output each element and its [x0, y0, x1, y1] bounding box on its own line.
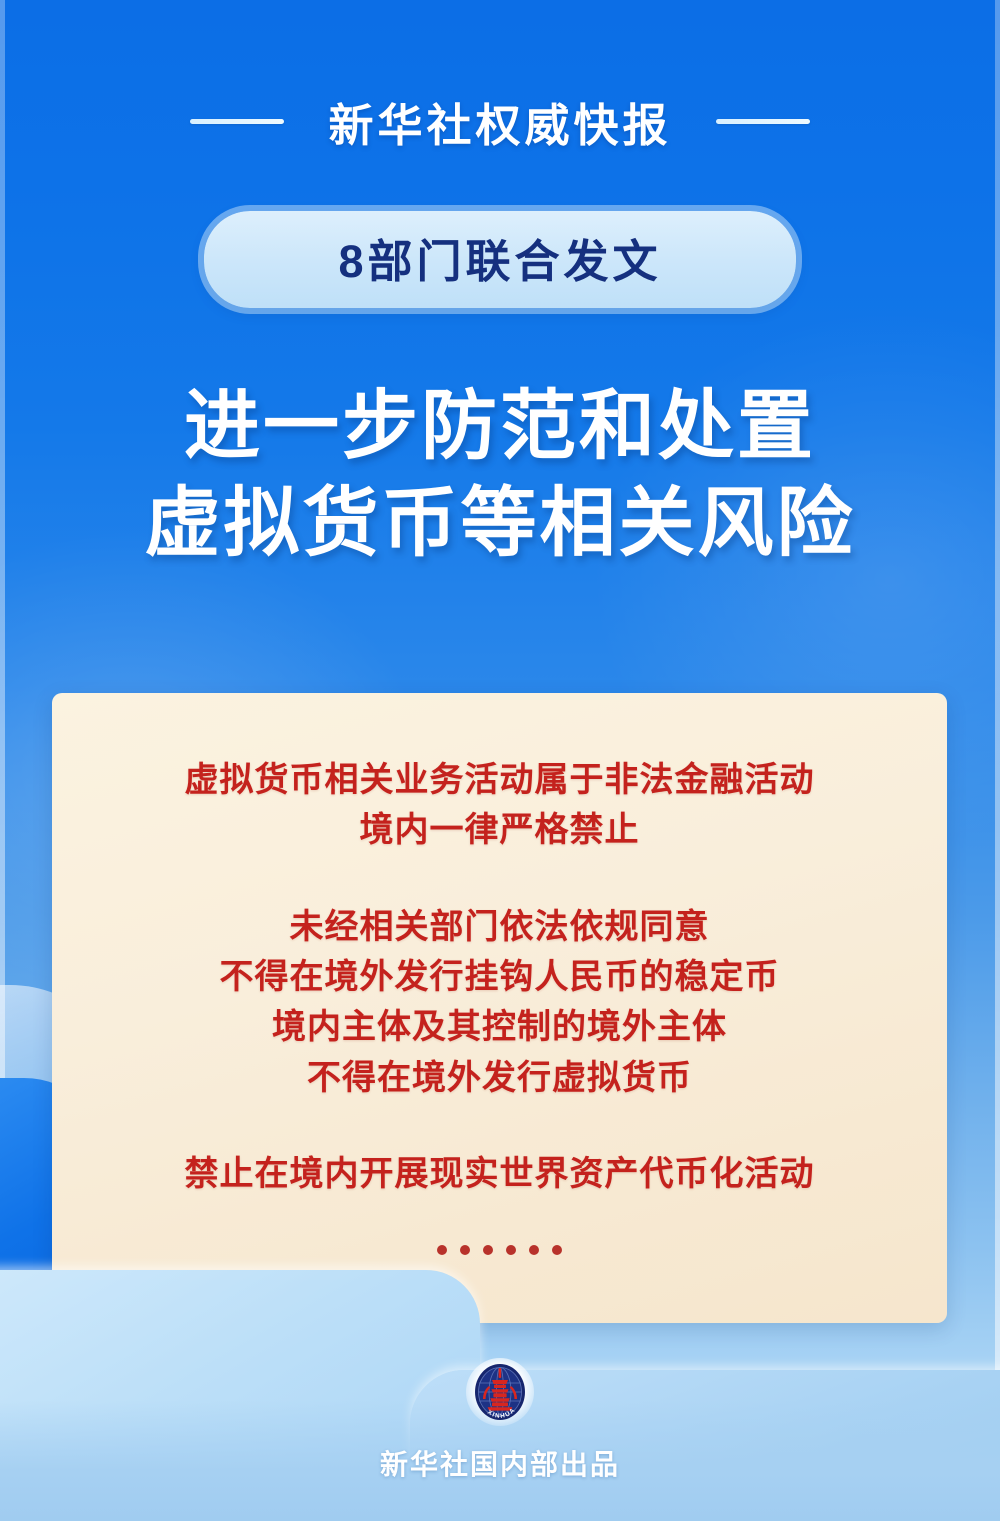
statement-line: 虚拟货币相关业务活动属于非法金融活动 [52, 755, 947, 805]
statement-line: 不得在境外发行挂钩人民币的稳定币 [52, 952, 947, 1002]
ellipsis-dot [437, 1245, 447, 1255]
statement-line: 不得在境外发行虚拟货币 [52, 1053, 947, 1103]
ellipsis-icon [52, 1245, 947, 1255]
statement-group-3: 禁止在境内开展现实世界资产代币化活动 [52, 1149, 947, 1199]
statement-line: 境内主体及其控制的境外主体 [52, 1002, 947, 1052]
statement-line: 未经相关部门依法依规同意 [52, 902, 947, 952]
ellipsis-dot [483, 1245, 493, 1255]
badge-container: 8部门联合发文 [0, 211, 1000, 308]
ellipsis-dot [506, 1245, 516, 1255]
page-title: 新华社权威快报 [328, 89, 671, 154]
headline-line-2: 虚拟货币等相关风险 [0, 475, 1000, 572]
headline-line-1: 进一步防范和处置 [0, 378, 1000, 475]
horizontal-rule-icon [716, 119, 810, 124]
status-badge-label: 8部门联合发文 [260, 225, 740, 290]
ellipsis-dot [460, 1245, 470, 1255]
header: 新华社权威快报 [0, 86, 1000, 156]
statement-line: 境内一律严格禁止 [52, 805, 947, 855]
xinhua-logo-icon: XINHUA [464, 1356, 536, 1428]
horizontal-rule-icon [190, 119, 284, 124]
ellipsis-dot [529, 1245, 539, 1255]
statement-line: 禁止在境内开展现实世界资产代币化活动 [52, 1149, 947, 1199]
statement-group-2: 未经相关部门依法依规同意 不得在境外发行挂钩人民币的稳定币 境内主体及其控制的境… [52, 902, 947, 1103]
poster-root: 新华社权威快报 8部门联合发文 进一步防范和处置 虚拟货币等相关风险 虚拟货币相… [0, 0, 1000, 1521]
content-card-body: 虚拟货币相关业务活动属于非法金融活动 境内一律严格禁止 未经相关部门依法依规同意… [52, 693, 947, 1255]
statement-group-1: 虚拟货币相关业务活动属于非法金融活动 境内一律严格禁止 [52, 755, 947, 856]
status-badge: 8部门联合发文 [204, 211, 796, 308]
content-card: 虚拟货币相关业务活动属于非法金融活动 境内一律严格禁止 未经相关部门依法依规同意… [52, 693, 947, 1323]
headline: 进一步防范和处置 虚拟货币等相关风险 [0, 378, 1000, 573]
ellipsis-dot [552, 1245, 562, 1255]
footer-caption: 新华社国内部出品 [0, 1443, 1000, 1483]
